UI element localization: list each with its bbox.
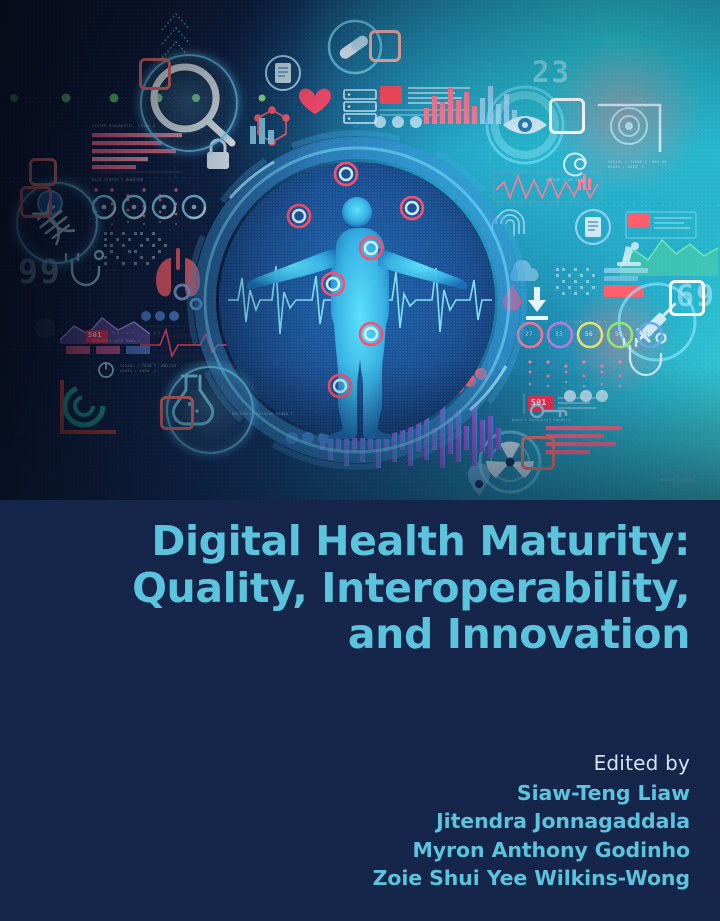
title-band: Digital Health Maturity: Quality, Intero…: [0, 500, 720, 921]
title-line-3: and Innovation: [30, 611, 690, 658]
edge-vignette: [0, 0, 720, 500]
page-title: Digital Health Maturity: Quality, Intero…: [30, 518, 690, 658]
editor-name: Jitendra Jonnagaddala: [373, 807, 690, 835]
editor-name: Siaw-Teng Liaw: [373, 779, 690, 807]
title-line-1: Digital Health Maturity:: [30, 518, 690, 565]
book-cover: 23 99 69 SYSTEM DIAGNOSTIC LEVEL 2 DAT: [0, 0, 720, 921]
editor-name: Myron Anthony Godinho: [373, 836, 690, 864]
editor-name: Zoie Shui Yee Wilkins-Wong: [373, 864, 690, 892]
cover-artwork: 23 99 69 SYSTEM DIAGNOSTIC LEVEL 2 DAT: [0, 0, 720, 500]
editor-list: Siaw-Teng Liaw Jitendra Jonnagaddala Myr…: [373, 779, 690, 892]
title-line-2: Quality, Interoperability,: [30, 565, 690, 612]
editors-block: Edited by Siaw-Teng Liaw Jitendra Jonnag…: [373, 750, 690, 892]
edited-by-label: Edited by: [373, 750, 690, 776]
